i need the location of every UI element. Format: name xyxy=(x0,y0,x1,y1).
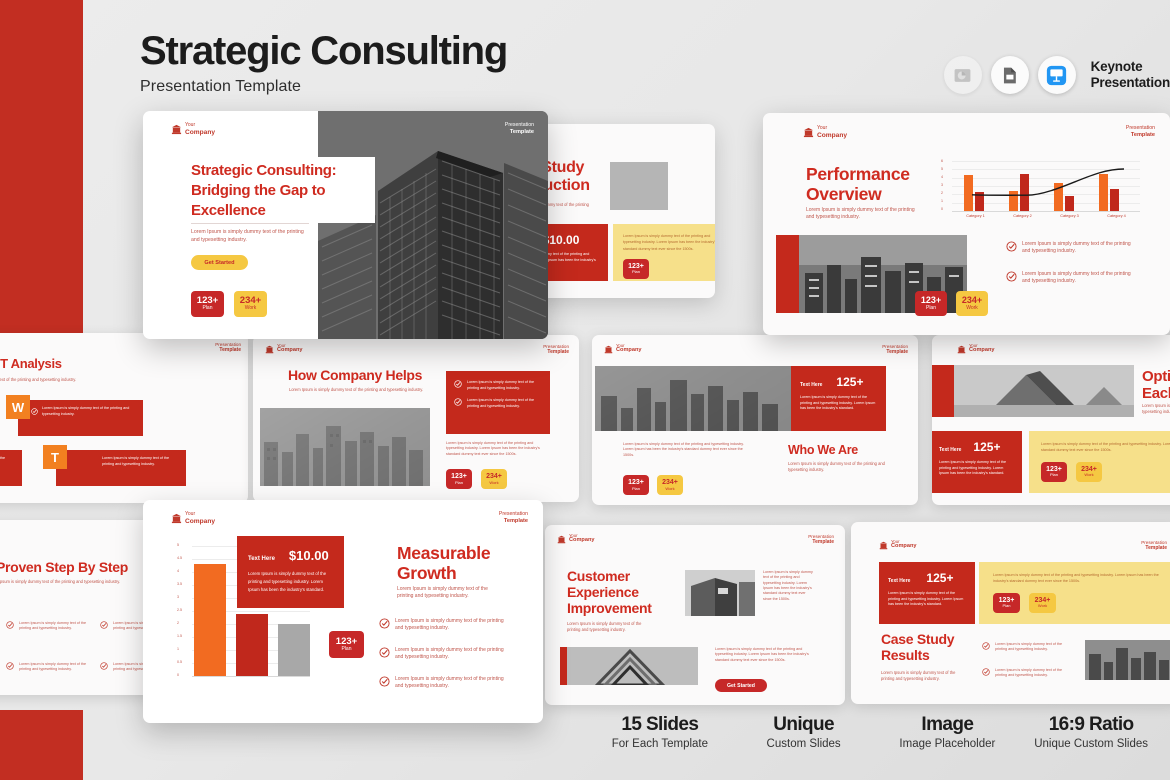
stat-card-value: 125+ xyxy=(973,440,1000,454)
slide-tag: Presentation Template xyxy=(1126,126,1155,139)
check-circle-icon xyxy=(454,398,462,406)
stat-caption: For Each Template xyxy=(588,738,732,750)
slide-tag-line2: Template xyxy=(510,129,534,135)
price-card-value: $10.00 xyxy=(289,548,329,563)
swot-card-t-text: Lorem Ipsum is simply dummy text of the … xyxy=(56,450,186,467)
optimize-title: Optimize Each xyxy=(1142,368,1170,402)
mg-title-line1: Measurable xyxy=(397,544,490,564)
badge-work-label: Work xyxy=(665,487,674,491)
hero-title-line1: Strategic Consulting: xyxy=(191,161,336,181)
page-subtitle: Presentation Template xyxy=(140,78,507,96)
slide-tag: Presentation Template xyxy=(215,342,241,354)
stat-card-text: Lorem Ipsum is simply dummy text of the … xyxy=(888,591,966,608)
divider xyxy=(191,223,309,224)
bank-building-icon xyxy=(171,124,182,135)
bank-building-icon xyxy=(171,513,182,524)
case-study-results-title: Case Study Results xyxy=(881,632,954,664)
price-card-label: Text Here xyxy=(248,556,275,562)
badge-work[interactable]: 234+ Work xyxy=(1029,593,1056,613)
badge-work[interactable]: 234+ Work xyxy=(657,475,683,495)
yellow-card-text: Lorem Ipsum is simply dummy text of the … xyxy=(623,233,715,252)
logo-line2: Company xyxy=(569,538,595,544)
check-circle-icon xyxy=(454,380,462,388)
ytick-4p5: 4.5 xyxy=(177,556,182,560)
who-we-are-subtitle: Lorem Ipsum is simply dummy text of the … xyxy=(788,461,893,473)
slide-optimize-each[interactable]: YourCompany Optimize Each Lorem Ipsum is… xyxy=(932,335,1170,505)
bar-3 xyxy=(278,624,310,676)
ytick-4: 4 xyxy=(941,175,943,179)
bullet-text: Lorem Ipsum is simply dummy text of the … xyxy=(467,398,542,409)
slide-performance-overview[interactable]: YourCompany Presentation Template Perfor… xyxy=(763,113,1170,335)
bank-building-icon xyxy=(265,345,274,354)
slide-logo: YourCompany xyxy=(803,126,847,139)
slide-tag-line2: Template xyxy=(1131,132,1155,138)
price-card-text: Lorem Ipsum is simply dummy text of the … xyxy=(248,570,333,594)
badge-plan[interactable]: 123+ Plan xyxy=(446,469,472,489)
bar-1 xyxy=(194,564,226,676)
optimize-title-line1: Optimize xyxy=(1142,368,1170,385)
bullet-text: Lorem Ipsum is simply dummy text of the … xyxy=(395,618,509,633)
ytick-0: 0 xyxy=(941,207,943,211)
ytick-5: 5 xyxy=(941,167,943,171)
left-red-accent-top xyxy=(0,0,83,333)
check-circle-icon xyxy=(379,618,390,629)
check-circle-icon xyxy=(100,662,108,670)
ytick-0: 0 xyxy=(177,673,179,677)
badge-plan-label: Plan xyxy=(341,647,351,652)
slide-tag-line2: Template xyxy=(219,347,241,353)
slide-logo: YourCompany xyxy=(171,123,215,136)
case-study-intro-yellow-card: Lorem Ipsum is simply dummy text of the … xyxy=(613,224,715,281)
check-circle-icon xyxy=(379,647,390,658)
case-study-results-subtitle: Lorem Ipsum is simply dummy text of the … xyxy=(881,670,966,682)
pattern-image-placeholder xyxy=(563,647,698,685)
logo-line2: Company xyxy=(616,348,642,354)
performance-subtitle: Lorem Ipsum is simply dummy text of the … xyxy=(806,207,918,222)
city-image-placeholder xyxy=(260,408,430,486)
slide-logo: YourCompany xyxy=(957,344,995,354)
swot-card-t[interactable]: Lorem Ipsum is simply dummy text of the … xyxy=(56,450,186,486)
customer-experience-bottom-body: Lorem Ipsum is simply dummy text of the … xyxy=(715,647,815,663)
slide-tag-line2: Template xyxy=(1145,545,1167,551)
slide-tag: Presentation Template xyxy=(505,123,534,136)
image-placeholder xyxy=(610,162,668,210)
slide-swot-analysis[interactable]: Presentation Template SWOT Analysis Lore… xyxy=(0,333,248,503)
ce-title-line1: Customer xyxy=(567,569,652,585)
badge-plan[interactable]: 123+ Plan xyxy=(623,259,649,279)
ytick-1p5: 1.5 xyxy=(177,634,182,638)
case-study-yellow-card: Lorem Ipsum is simply dummy text of the … xyxy=(979,562,1170,624)
check-circle-icon xyxy=(982,642,990,650)
mg-title-line2: Growth xyxy=(397,564,490,584)
ytick-1: 1 xyxy=(177,647,179,651)
xtick-2: Category 3 xyxy=(1046,214,1093,218)
slide-logo: YourCompany xyxy=(265,344,303,354)
xtick-3: Category 4 xyxy=(1093,214,1140,218)
bullet-text: Lorem Ipsum is simply dummy text of the … xyxy=(995,642,1064,653)
swot-card-o[interactable]: Lorem Ipsum is simply dummy text of the … xyxy=(0,450,22,486)
ytick-2: 2 xyxy=(941,191,943,195)
check-circle-icon xyxy=(1006,271,1017,282)
logo-line2: Company xyxy=(185,518,215,525)
badge-work[interactable]: 234+ Work xyxy=(1076,462,1102,482)
page-header: Strategic Consulting Presentation Templa… xyxy=(140,30,507,96)
bullet-text: Lorem Ipsum is simply dummy text of the … xyxy=(1022,271,1134,286)
badge-plan-label: Plan xyxy=(926,306,936,311)
how-company-helps-body: Lorem Ipsum is simply dummy text of the … xyxy=(446,441,551,457)
ytick-3: 3 xyxy=(177,595,179,599)
hero-title: Strategic Consulting: Bridging the Gap t… xyxy=(191,161,336,220)
stat-caption: Custom Slides xyxy=(732,738,876,750)
measurable-growth-title: Measurable Growth xyxy=(397,544,490,584)
get-started-button[interactable]: Get Started xyxy=(191,255,248,270)
how-company-helps-bullets-card: Lorem Ipsum is simply dummy text of the … xyxy=(446,371,550,434)
get-started-button[interactable]: Get Started xyxy=(715,679,767,692)
stat-caption: Image Placeholder xyxy=(876,738,1020,750)
proven-step-subtitle: Lorem Ipsum is simply dummy text of the … xyxy=(0,579,166,585)
ytick-3: 3 xyxy=(941,183,943,187)
badge-work-label: Work xyxy=(1084,473,1093,477)
slide-logo: YourCompany xyxy=(604,344,642,354)
skyscraper-image xyxy=(318,111,548,339)
left-red-accent-bottom xyxy=(0,710,83,780)
logo-line2: Company xyxy=(969,348,995,354)
optimize-subtitle: Lorem Ipsum is simply dummy text of the … xyxy=(1142,403,1170,415)
optimize-title-line2: Each xyxy=(1142,385,1170,402)
ytick-0p5: 0.5 xyxy=(177,660,182,664)
ce-title-line3: Improvement xyxy=(567,601,652,617)
google-slides-icon[interactable] xyxy=(991,56,1029,94)
case-study-stat-card: Text Here 125+ Lorem Ipsum is simply dum… xyxy=(879,562,975,624)
how-company-helps-title: How Company Helps xyxy=(288,368,422,384)
format-label: Keynote Presentation xyxy=(1091,59,1170,92)
swot-card-o-text: Lorem Ipsum is simply dummy text of the … xyxy=(0,450,22,467)
slide-tag: Presentation Template xyxy=(808,534,834,546)
hero-body: Lorem Ipsum is simply dummy text of the … xyxy=(191,229,311,244)
swot-subtitle: Lorem Ipsum is simply dummy text of the … xyxy=(0,377,142,383)
format-badges: Keynote Presentation xyxy=(944,56,1170,94)
swot-title: SWOT Analysis xyxy=(0,357,62,372)
badge-work[interactable]: 234+ Work xyxy=(481,469,507,489)
badge-work[interactable]: 234+ Work xyxy=(956,291,988,316)
measurable-growth-subtitle: Lorem Ipsum is simply dummy text of the … xyxy=(397,586,497,601)
stat-caption: Unique Custom Slides xyxy=(1019,738,1163,750)
bar-2 xyxy=(236,614,268,676)
bullet-text: Lorem Ipsum is simply dummy text of the … xyxy=(19,662,96,673)
powerpoint-icon[interactable] xyxy=(944,56,982,94)
stat-item: Image Image Placeholder xyxy=(876,714,1020,750)
badge-plan[interactable]: 123+ Plan xyxy=(915,291,947,316)
slide-who-we-are[interactable]: YourCompany Presentation Template Text H… xyxy=(592,335,918,505)
architecture-image-placeholder xyxy=(954,365,1134,417)
ce-title-line2: Experience xyxy=(567,585,652,601)
badge-plan[interactable]: 123+ Plan xyxy=(993,593,1020,613)
badge-plan-label: Plan xyxy=(632,487,640,491)
feature-stats: 15 Slides For Each Template Unique Custo… xyxy=(588,714,1163,750)
perf-title-line1: Performance xyxy=(806,165,910,185)
badge-plan-label: Plan xyxy=(1002,604,1010,608)
yellow-card-text: Lorem Ipsum is simply dummy text of the … xyxy=(1041,441,1170,454)
swot-letter-t: T xyxy=(43,445,67,469)
how-company-helps-subtitle: Lorem Ipsum is simply dummy text of the … xyxy=(289,387,434,393)
check-circle-icon xyxy=(6,662,14,670)
check-circle-icon xyxy=(100,621,108,629)
customer-experience-subtitle: Lorem Ipsum is simply dummy text of the … xyxy=(567,621,655,633)
stat-card-text: Lorem Ipsum is simply dummy text of the … xyxy=(800,395,877,412)
bank-building-icon xyxy=(604,345,613,354)
stat-value: Unique xyxy=(732,714,876,736)
csr-title-line1: Case Study xyxy=(881,632,954,648)
badge-plan[interactable]: 123+ Plan xyxy=(191,291,224,317)
stat-card-label: Text Here xyxy=(800,382,822,388)
slide-logo: YourCompany xyxy=(557,534,595,544)
badge-work-label: Work xyxy=(966,306,978,311)
badge-work-label: Work xyxy=(245,306,257,311)
city-image-placeholder xyxy=(595,366,791,431)
customer-experience-right-body: Lorem Ipsum is simply dummy text of the … xyxy=(763,570,815,602)
check-circle-icon xyxy=(982,668,990,676)
ytick-2p5: 2.5 xyxy=(177,608,182,612)
ytick-1: 1 xyxy=(941,199,943,203)
format-label-line2: Presentation xyxy=(1091,75,1170,91)
bank-building-icon xyxy=(957,345,966,354)
badge-plan[interactable]: 123+ Plan xyxy=(1041,462,1067,482)
check-circle-icon xyxy=(31,408,38,415)
measurable-growth-price-card: Text Here $10.00 Lorem Ipsum is simply d… xyxy=(237,536,344,608)
keynote-icon[interactable] xyxy=(1038,56,1076,94)
bullet-text: Lorem Ipsum is simply dummy text of the … xyxy=(19,621,96,632)
slide-customer-experience[interactable]: YourCompany Presentation Template Custom… xyxy=(545,525,845,705)
swot-card-w-text: Lorem Ipsum is simply dummy text of the … xyxy=(42,406,136,417)
slide-tag: Presentation Template xyxy=(1141,540,1167,552)
badge-plan-label: Plan xyxy=(202,306,212,311)
bank-building-icon xyxy=(803,127,814,138)
badge-plan[interactable]: 123+ Plan xyxy=(623,475,649,495)
ytick-5: 5 xyxy=(177,543,179,547)
check-circle-icon xyxy=(1006,241,1017,252)
slide-case-study-results[interactable]: YourCompany Presentation Template Text H… xyxy=(851,522,1170,704)
who-we-are-title: Who We Are xyxy=(788,443,858,457)
slide-how-company-helps[interactable]: YourCompany Presentation Template How Co… xyxy=(253,335,579,502)
logo-line2: Company xyxy=(277,348,303,354)
badge-plan-label: Plan xyxy=(1050,473,1058,477)
bullet-text: Lorem Ipsum is simply dummy text of the … xyxy=(995,668,1064,679)
perf-title-line2: Overview xyxy=(806,185,910,205)
badge-work-label: Work xyxy=(489,481,498,485)
red-accent-block xyxy=(932,365,954,417)
bullet-text: Lorem Ipsum is simply dummy text of the … xyxy=(467,380,542,391)
ytick-6: 6 xyxy=(941,159,943,163)
ytick-2: 2 xyxy=(177,621,179,625)
ytick-3p5: 3.5 xyxy=(177,582,182,586)
trend-line xyxy=(952,161,1140,211)
ytick-4: 4 xyxy=(177,569,179,573)
performance-title: Performance Overview xyxy=(806,165,910,205)
bank-building-icon xyxy=(879,541,888,550)
swot-card-w[interactable]: Lorem Ipsum is simply dummy text of the … xyxy=(18,400,143,436)
slide-hero-strategic-consulting[interactable]: YourCompany Presentation Template Strate… xyxy=(143,111,548,339)
logo-line2: Company xyxy=(185,129,215,136)
slide-logo: YourCompany xyxy=(879,540,917,550)
slide-tag: Presentation Template xyxy=(499,512,528,525)
badge-plan[interactable]: 123+ Plan xyxy=(329,631,364,658)
xtick-0: Category 1 xyxy=(952,214,999,218)
yellow-card-text: Lorem Ipsum is simply dummy text of the … xyxy=(993,572,1167,585)
badge-plan-label: Plan xyxy=(455,481,463,485)
bullet-text: Lorem Ipsum is simply dummy text of the … xyxy=(395,676,509,691)
slide-tag-line2: Template xyxy=(547,349,569,355)
badge-plan-label: Plan xyxy=(632,270,640,274)
customer-experience-title: Customer Experience Improvement xyxy=(567,569,652,617)
badge-work-label: Work xyxy=(1038,604,1047,608)
slide-tag: Presentation Template xyxy=(543,344,569,356)
performance-overview-chart: 6 5 4 3 2 1 0 xyxy=(940,161,1140,223)
csr-title-line2: Results xyxy=(881,648,954,664)
stat-item: 16:9 Ratio Unique Custom Slides xyxy=(1019,714,1163,750)
building-image-placeholder xyxy=(685,570,755,616)
slide-tag: Presentation Template xyxy=(882,344,908,356)
slide-measurable-growth[interactable]: YourCompany Presentation Template 5 4.5 … xyxy=(143,500,543,723)
stat-card-value: 125+ xyxy=(836,375,863,389)
bullet-text: Lorem Ipsum is simply dummy text of the … xyxy=(1022,241,1134,256)
proven-step-title: Proven Step By Step xyxy=(0,560,128,576)
logo-line2: Company xyxy=(891,544,917,550)
who-we-are-left-body: Lorem Ipsum is simply dummy text of the … xyxy=(623,442,748,458)
stat-card-label: Text Here xyxy=(888,578,910,584)
hero-title-line2: Bridging the Gap to xyxy=(191,181,336,201)
check-circle-icon xyxy=(6,621,14,629)
format-label-line1: Keynote xyxy=(1091,59,1170,75)
optimize-stat-card: Text Here 125+ Lorem Ipsum is simply dum… xyxy=(932,431,1022,493)
poster-stage: Strategic Consulting Presentation Templa… xyxy=(0,0,1170,780)
optimize-yellow-card: Lorem Ipsum is simply dummy text of the … xyxy=(1029,431,1170,493)
logo-line2: Company xyxy=(817,132,847,139)
bank-building-icon xyxy=(557,535,566,544)
stat-item: 15 Slides For Each Template xyxy=(588,714,732,750)
swot-letter-w: W xyxy=(6,395,30,419)
badge-work[interactable]: 234+ Work xyxy=(234,291,267,317)
slide-tag-line2: Template xyxy=(886,349,908,355)
slide-tag-line2: Template xyxy=(504,518,528,524)
price-card-value: $10.00 xyxy=(543,233,580,247)
xtick-1: Category 2 xyxy=(999,214,1046,218)
stat-card-text: Lorem Ipsum is simply dummy text of the … xyxy=(939,460,1013,477)
stat-value: Image xyxy=(876,714,1020,736)
who-we-are-stat-card: Text Here 125+ Lorem Ipsum is simply dum… xyxy=(791,366,886,431)
stat-value: 16:9 Ratio xyxy=(1019,714,1163,736)
hero-title-line3: Excellence xyxy=(191,201,336,221)
stat-card-label: Text Here xyxy=(939,447,961,453)
stat-value: 15 Slides xyxy=(588,714,732,736)
city-image-placeholder xyxy=(1085,640,1170,680)
page-title: Strategic Consulting xyxy=(140,30,507,72)
stat-item: Unique Custom Slides xyxy=(732,714,876,750)
red-accent-strip xyxy=(560,647,567,685)
slide-tag-line2: Template xyxy=(812,539,834,545)
bullet-text: Lorem Ipsum is simply dummy text of the … xyxy=(395,647,509,662)
slide-logo: YourCompany xyxy=(171,512,215,525)
check-circle-icon xyxy=(379,676,390,687)
hero-title-panel: Strategic Consulting: Bridging the Gap t… xyxy=(143,157,375,223)
stat-card-value: 125+ xyxy=(926,571,953,585)
